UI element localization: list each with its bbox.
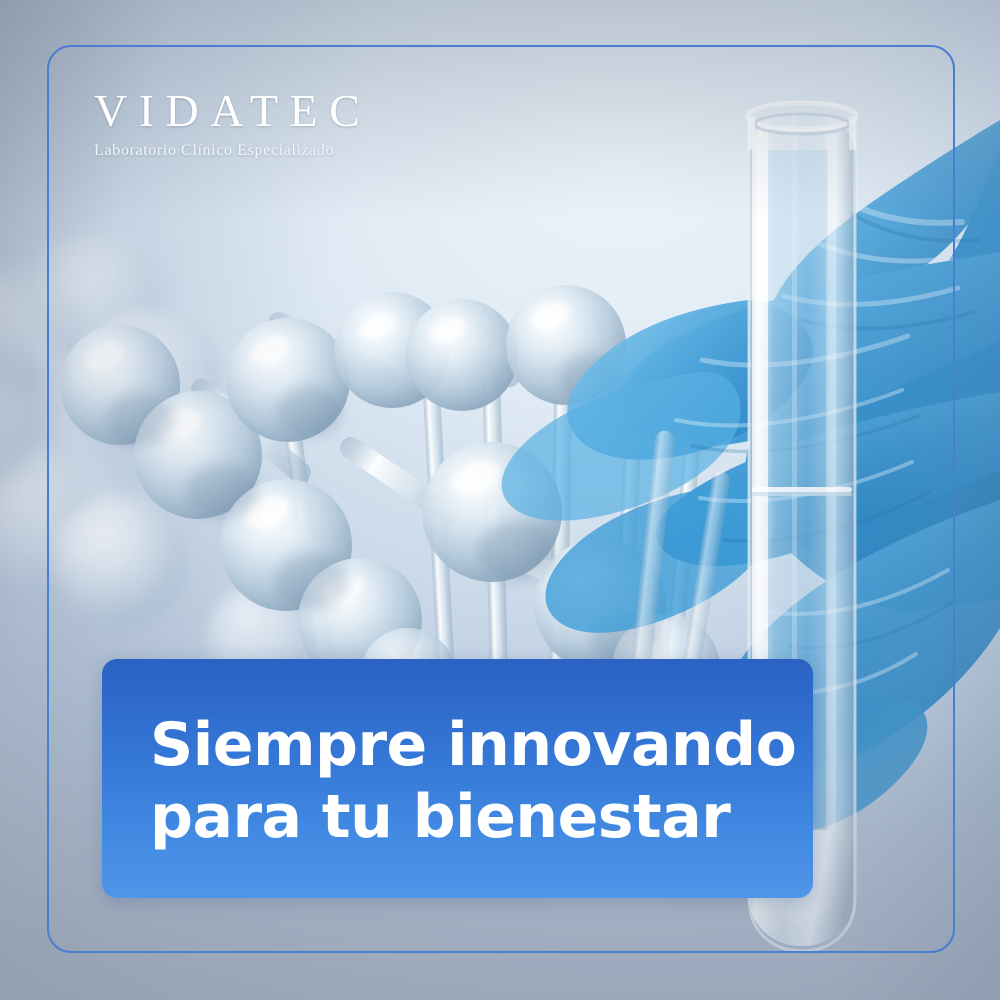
brand-tagline: Laboratorio Clínico Especializado [94,140,424,160]
brand-logo: VIDATEC Laboratorio Clínico Especializad… [94,88,424,160]
headline-line-1: Siempre innovando [150,710,813,780]
brand-name: VIDATEC [94,88,424,134]
headline-line-2: para tu bienestar [150,782,813,852]
headline-banner: Siempre innovando para tu bienestar [102,659,813,898]
promo-graphic-canvas: VIDATEC Laboratorio Clínico Especializad… [0,0,1000,1000]
